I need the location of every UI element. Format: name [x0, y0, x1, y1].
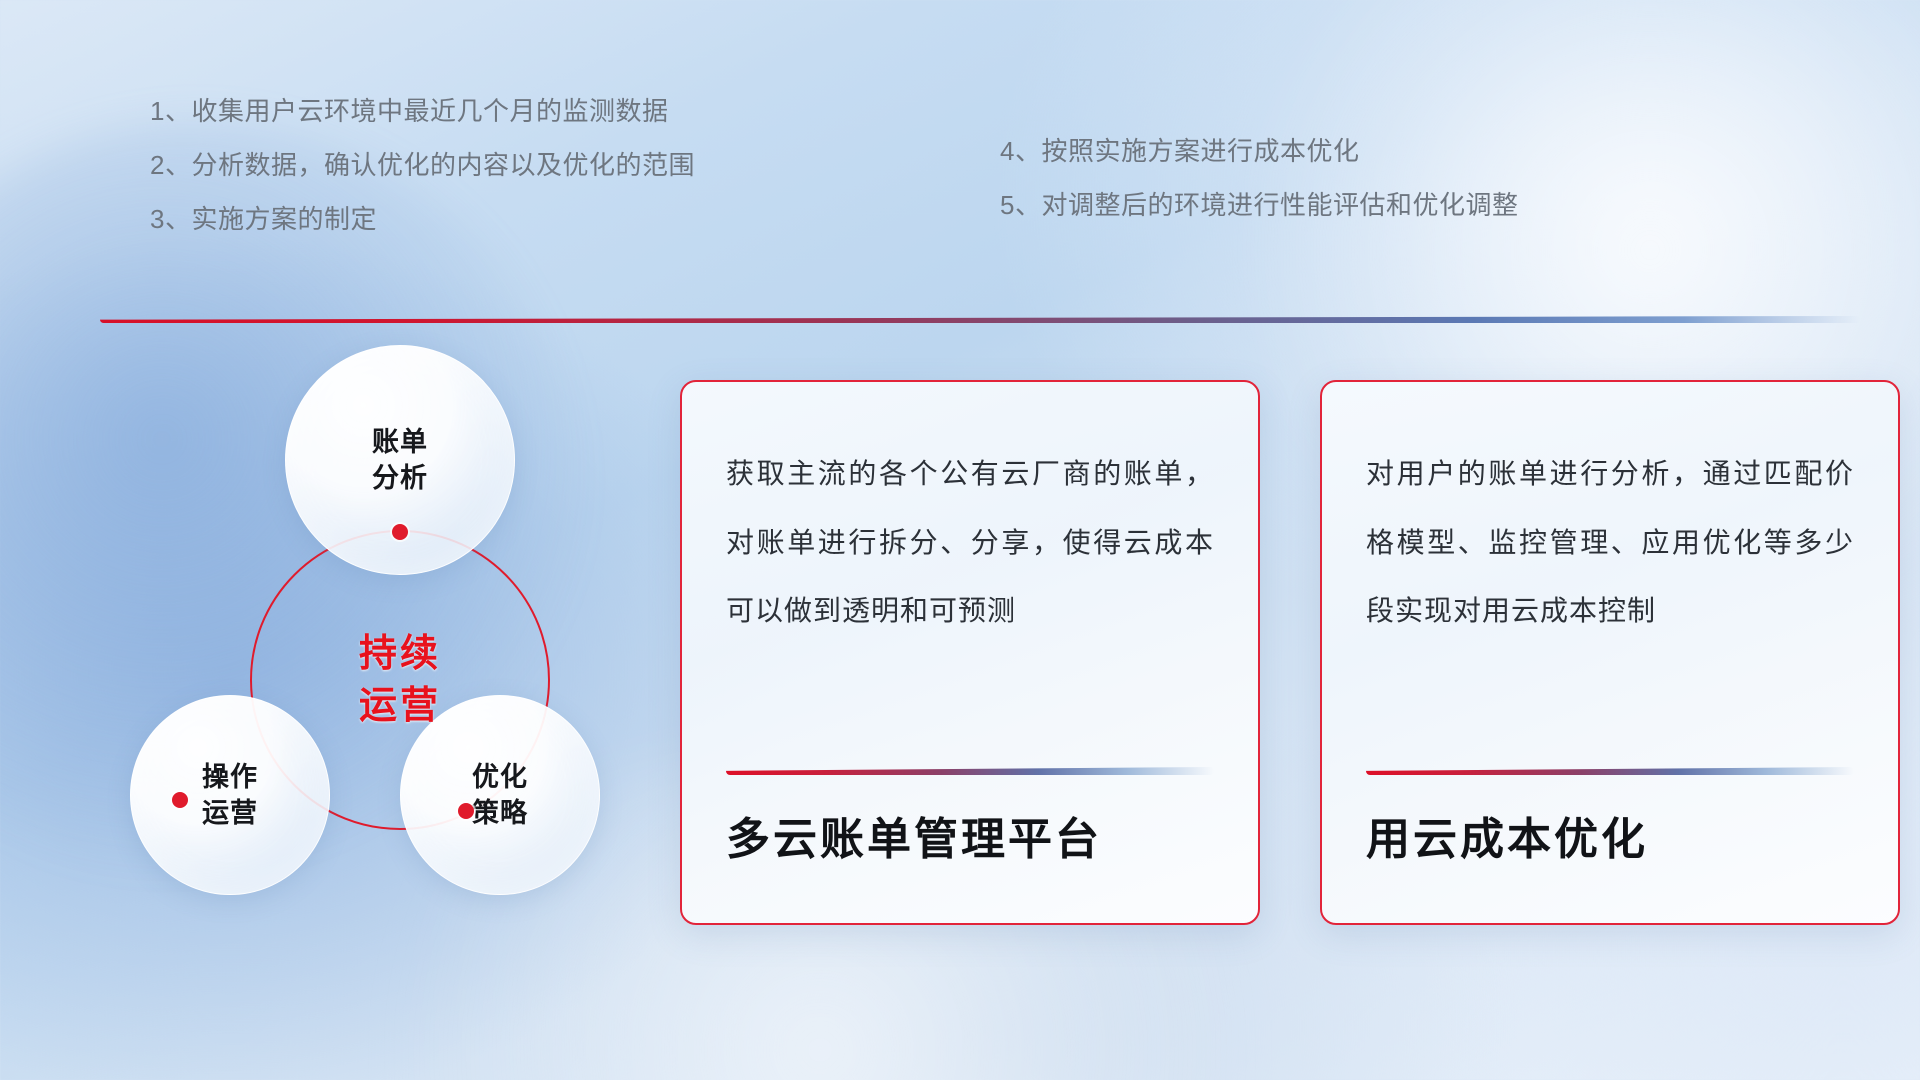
step-item-2: 2、分析数据，确认优化的内容以及优化的范围 — [150, 138, 695, 192]
diagram-center-label: 持续 运营 — [250, 530, 550, 830]
card-multicloud-billing[interactable]: 获取主流的各个公有云厂商的账单，对账单进行拆分、分享，使得云成本可以做到透明和可… — [680, 380, 1260, 925]
card-divider — [726, 767, 1214, 775]
card-divider — [1366, 767, 1854, 775]
step-item-4: 4、按照实施方案进行成本优化 — [1000, 124, 1518, 178]
step-item-3: 3、实施方案的制定 — [150, 192, 695, 246]
card-cloud-cost-optimization-title: 用云成本优化 — [1366, 803, 1854, 923]
card-multicloud-billing-body: 获取主流的各个公有云厂商的账单，对账单进行拆分、分享，使得云成本可以做到透明和可… — [726, 440, 1214, 767]
node-dot-right-icon — [458, 803, 474, 819]
operations-venn-diagram: 账单 分析 操作 运营 优化 策略 持续 运营 — [100, 360, 620, 920]
card-multicloud-billing-title: 多云账单管理平台 — [726, 803, 1214, 923]
feature-cards: 获取主流的各个公有云厂商的账单，对账单进行拆分、分享，使得云成本可以做到透明和可… — [680, 380, 1900, 940]
card-cloud-cost-optimization[interactable]: 对用户的账单进行分析，通过匹配价格模型、监控管理、应用优化等多少段实现对用云成本… — [1320, 380, 1900, 925]
steps-column-left: 1、收集用户云环境中最近几个月的监测数据 2、分析数据，确认优化的内容以及优化的… — [150, 84, 695, 246]
center-label-line1: 持续 — [359, 628, 441, 680]
bubble-label-line2: 分析 — [372, 460, 428, 496]
step-item-5: 5、对调整后的环境进行性能评估和优化调整 — [1000, 178, 1518, 232]
steps-column-right: 4、按照实施方案进行成本优化 5、对调整后的环境进行性能评估和优化调整 — [1000, 124, 1518, 232]
center-label-line2: 运营 — [359, 680, 441, 732]
section-divider-rule — [100, 316, 1860, 323]
steps-list: 1、收集用户云环境中最近几个月的监测数据 2、分析数据，确认优化的内容以及优化的… — [0, 84, 1920, 254]
bubble-label-line1: 账单 — [372, 424, 428, 460]
node-dot-left-icon — [172, 792, 188, 808]
step-item-1: 1、收集用户云环境中最近几个月的监测数据 — [150, 84, 695, 138]
bubble-bill-analysis-label: 账单 分析 — [372, 424, 428, 497]
node-dot-top-icon — [392, 524, 408, 540]
card-cloud-cost-optimization-body: 对用户的账单进行分析，通过匹配价格模型、监控管理、应用优化等多少段实现对用云成本… — [1366, 440, 1854, 767]
